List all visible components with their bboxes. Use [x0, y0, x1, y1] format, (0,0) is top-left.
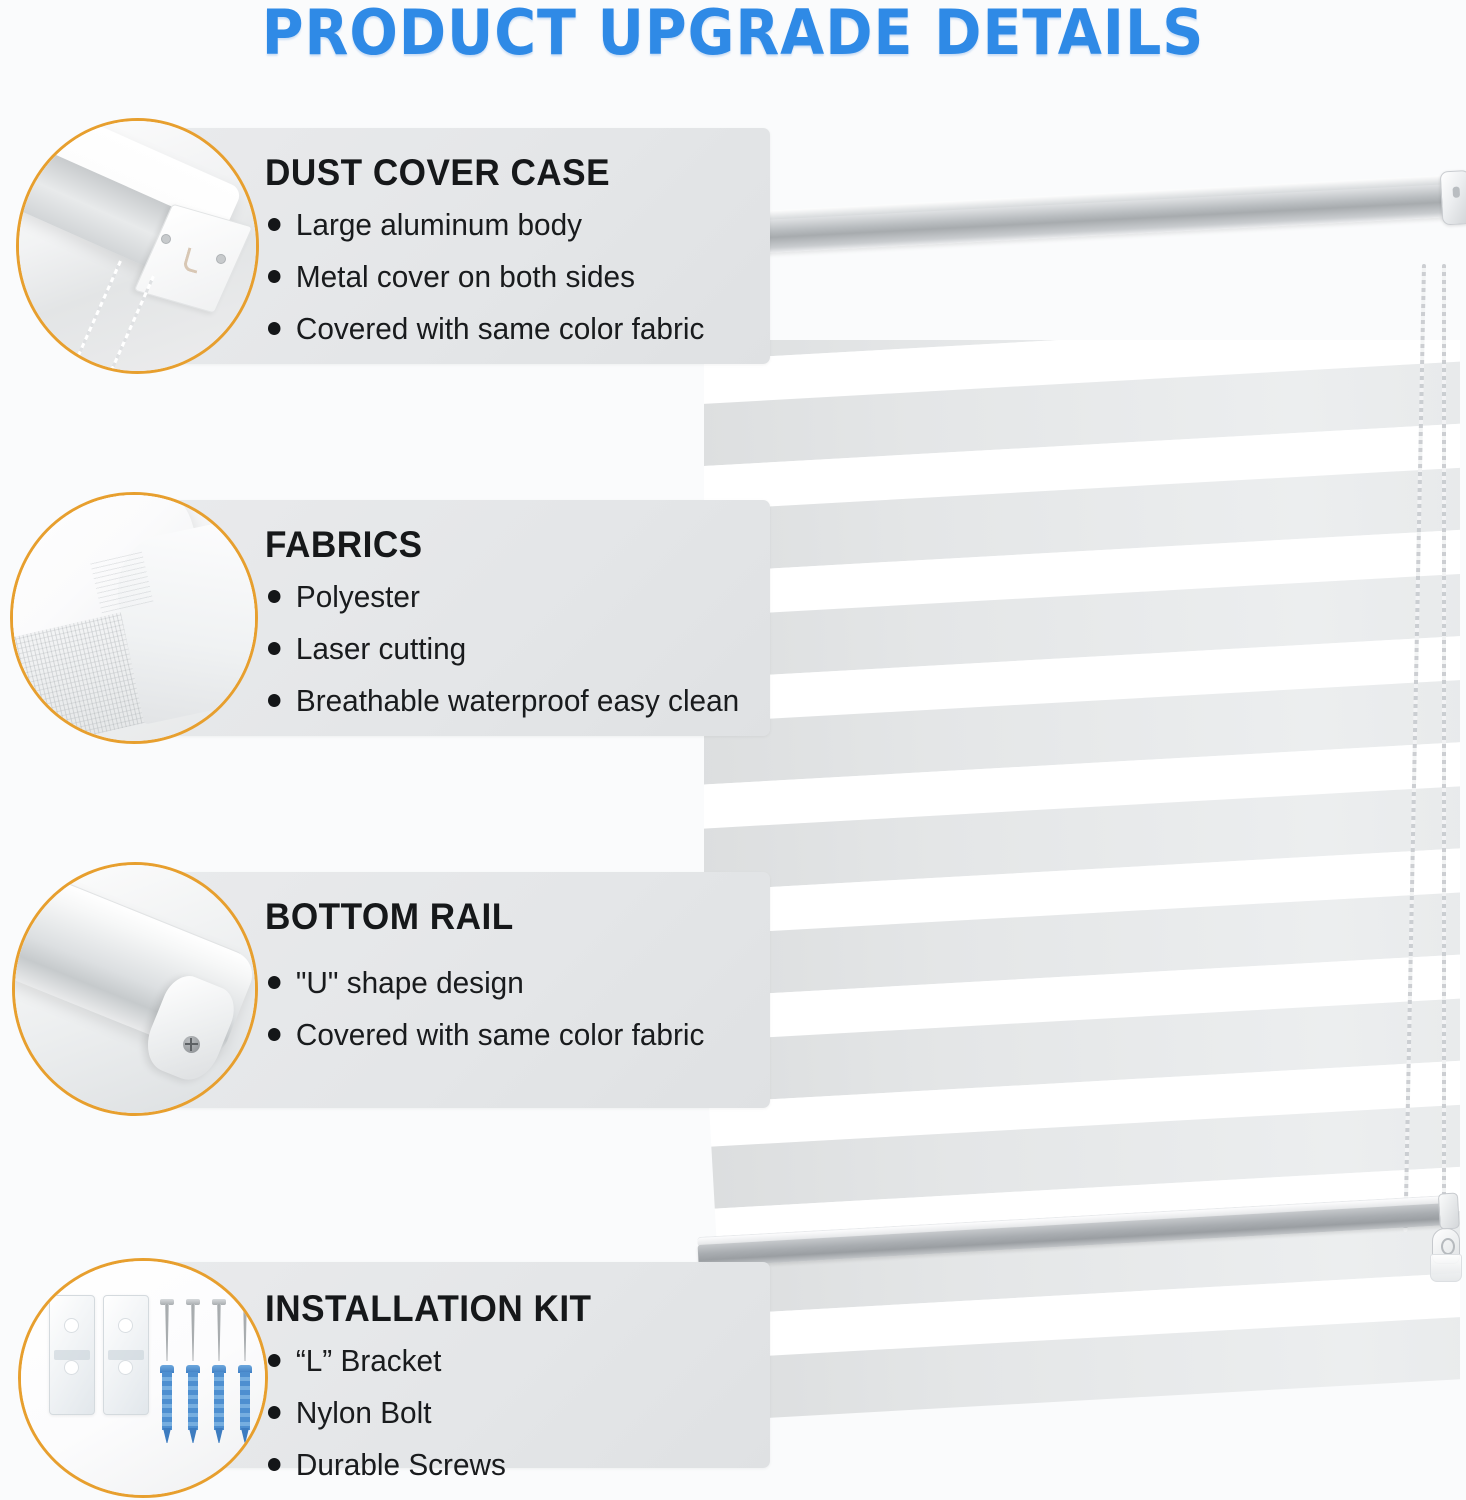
bullet-dot-icon: [268, 1406, 280, 1419]
list-item: Durable Screws: [268, 1447, 506, 1483]
l-bracket-icon: [103, 1295, 149, 1415]
l-bracket-icon: [49, 1295, 95, 1415]
list-item: Polyester: [268, 579, 739, 615]
page-title: PRODUCT UPGRADE DETAILS: [59, 0, 1408, 69]
list-item: “L” Bracket: [268, 1343, 506, 1379]
zebra-roller-blind-image: [690, 190, 1466, 1350]
feature-bullets-installation-kit: “L” Bracket Nylon Bolt Durable Screws: [268, 1343, 516, 1499]
list-item: Laser cutting: [268, 631, 739, 667]
list-item: Covered with same color fabric: [268, 1017, 704, 1053]
bullet-dot-icon: [268, 1028, 280, 1041]
list-item: Covered with same color fabric: [268, 311, 704, 347]
wall-anchor-icon: [186, 1365, 200, 1443]
bullet-dot-icon: [268, 1354, 280, 1367]
screw-icon: [215, 1299, 223, 1361]
bullet-dot-icon: [268, 1458, 280, 1471]
wall-anchor-icon: [160, 1365, 174, 1443]
list-item: Nylon Bolt: [268, 1395, 506, 1431]
bullet-dot-icon: [268, 218, 280, 231]
feature-heading-dust-cover-case: DUST COVER CASE: [265, 152, 610, 194]
bottom-rail-photo: [12, 862, 258, 1116]
screw-icon: [241, 1299, 249, 1361]
screw-icon: [163, 1299, 171, 1361]
bullet-dot-icon: [268, 590, 280, 603]
feature-heading-installation-kit: INSTALLATION KIT: [265, 1288, 592, 1330]
wall-anchor-icon: [212, 1365, 226, 1443]
wall-anchor-icon: [238, 1365, 252, 1443]
bullet-dot-icon: [268, 322, 280, 335]
infographic-canvas: PRODUCT UPGRADE DETAILS: [0, 0, 1466, 1500]
bullet-dot-icon: [268, 694, 280, 707]
list-item: Breathable waterproof easy clean: [268, 683, 739, 719]
feature-bullets-fabrics: Polyester Laser cutting Breathable water…: [268, 579, 759, 735]
dust-cover-case-photo: [16, 118, 259, 374]
installation-kit-photo: [18, 1258, 268, 1498]
screw-icon: [189, 1299, 197, 1361]
feature-bullets-dust-cover-case: Large aluminum body Metal cover on both …: [268, 207, 723, 363]
bullet-dot-icon: [268, 976, 280, 989]
bottom-rail-end-cap: [1438, 1192, 1460, 1229]
feature-bullets-bottom-rail: "U" shape design Covered with same color…: [268, 965, 723, 1069]
chain-tensioner-base: [1430, 1254, 1462, 1282]
list-item: Metal cover on both sides: [268, 259, 704, 295]
feature-heading-fabrics: FABRICS: [265, 524, 423, 566]
feature-heading-bottom-rail: BOTTOM RAIL: [265, 896, 514, 938]
bullet-dot-icon: [268, 270, 280, 283]
list-item: "U" shape design: [268, 965, 704, 1001]
list-item: Large aluminum body: [268, 207, 704, 243]
bead-chain[interactable]: [690, 190, 1466, 1350]
fabrics-photo: [10, 492, 258, 744]
bullet-dot-icon: [268, 642, 280, 655]
